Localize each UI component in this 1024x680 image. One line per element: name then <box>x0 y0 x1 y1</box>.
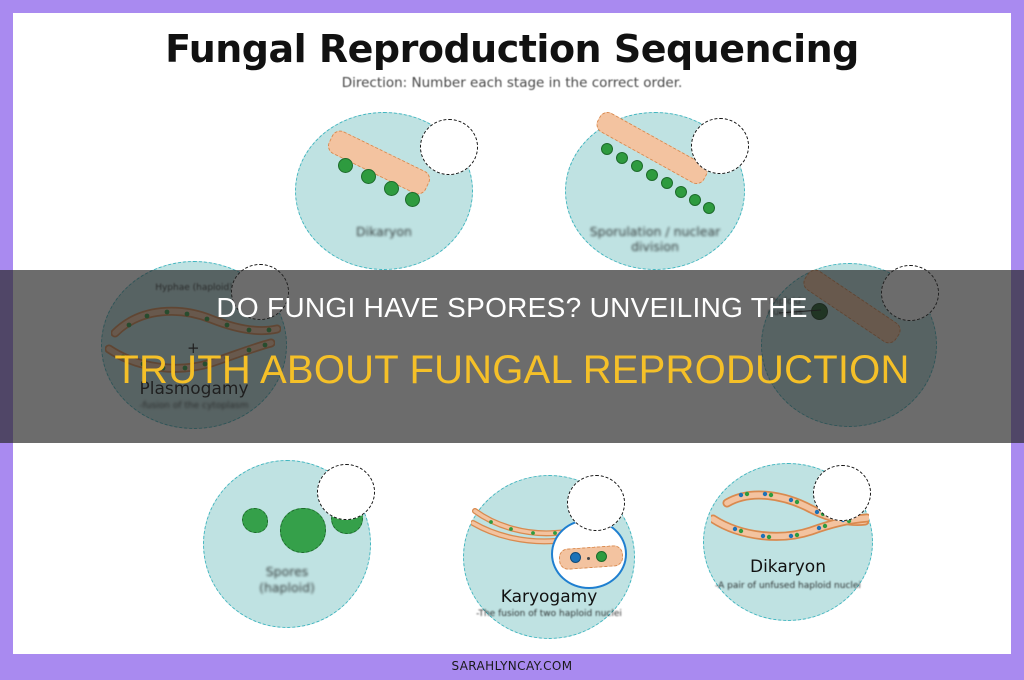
answer-blank-circle[interactable] <box>317 464 375 520</box>
caption-line-1: DO FUNGI HAVE SPORES? UNVEILING THE <box>0 292 1024 324</box>
answer-blank-circle[interactable] <box>691 118 749 174</box>
stage-karyogamy: Karyogamy -The fusion of two haploid nuc… <box>463 475 635 639</box>
answer-blank-circle[interactable] <box>420 119 478 175</box>
nucleus <box>338 158 353 173</box>
nucleus-blue <box>570 552 581 563</box>
nucleus <box>361 169 376 184</box>
nucleus <box>646 169 658 181</box>
nucleus <box>601 143 613 155</box>
footer-site-url: SARAHLYNCAY.COM <box>0 659 1024 673</box>
nucleus <box>384 181 399 196</box>
answer-blank-circle[interactable] <box>813 465 871 521</box>
nucleus <box>631 160 643 172</box>
stage-dikaryon: Dikaryon -A pair of unfused haploid nucl… <box>703 463 873 621</box>
nucleus-green <box>596 551 607 562</box>
caption-overlay-band: DO FUNGI HAVE SPORES? UNVEILING THE TRUT… <box>0 270 1024 443</box>
nucleus <box>675 186 687 198</box>
hypha-tube-zoom <box>558 545 623 570</box>
stage-spores: Spores (haploid) <box>203 460 371 628</box>
answer-blank-circle[interactable] <box>567 475 625 531</box>
nucleus <box>703 202 715 214</box>
nucleus-dot <box>587 557 590 560</box>
stage-karyogamy-result: Dikaryon <box>295 112 473 270</box>
spore-blob <box>280 508 326 553</box>
nucleus <box>661 177 673 189</box>
nucleus <box>616 152 628 164</box>
caption-line-2: TRUTH ABOUT FUNGAL REPRODUCTION <box>0 348 1024 393</box>
page-title: Fungal Reproduction Sequencing <box>13 27 1011 71</box>
nucleus <box>689 194 701 206</box>
nucleus <box>405 192 420 207</box>
stage-nuclear-division: Sporulation / nuclear division <box>565 112 745 270</box>
page-direction: Direction: Number each stage in the corr… <box>13 75 1011 91</box>
spore-blob <box>242 508 268 533</box>
footer-band: SARAHLYNCAY.COM <box>0 654 1024 680</box>
